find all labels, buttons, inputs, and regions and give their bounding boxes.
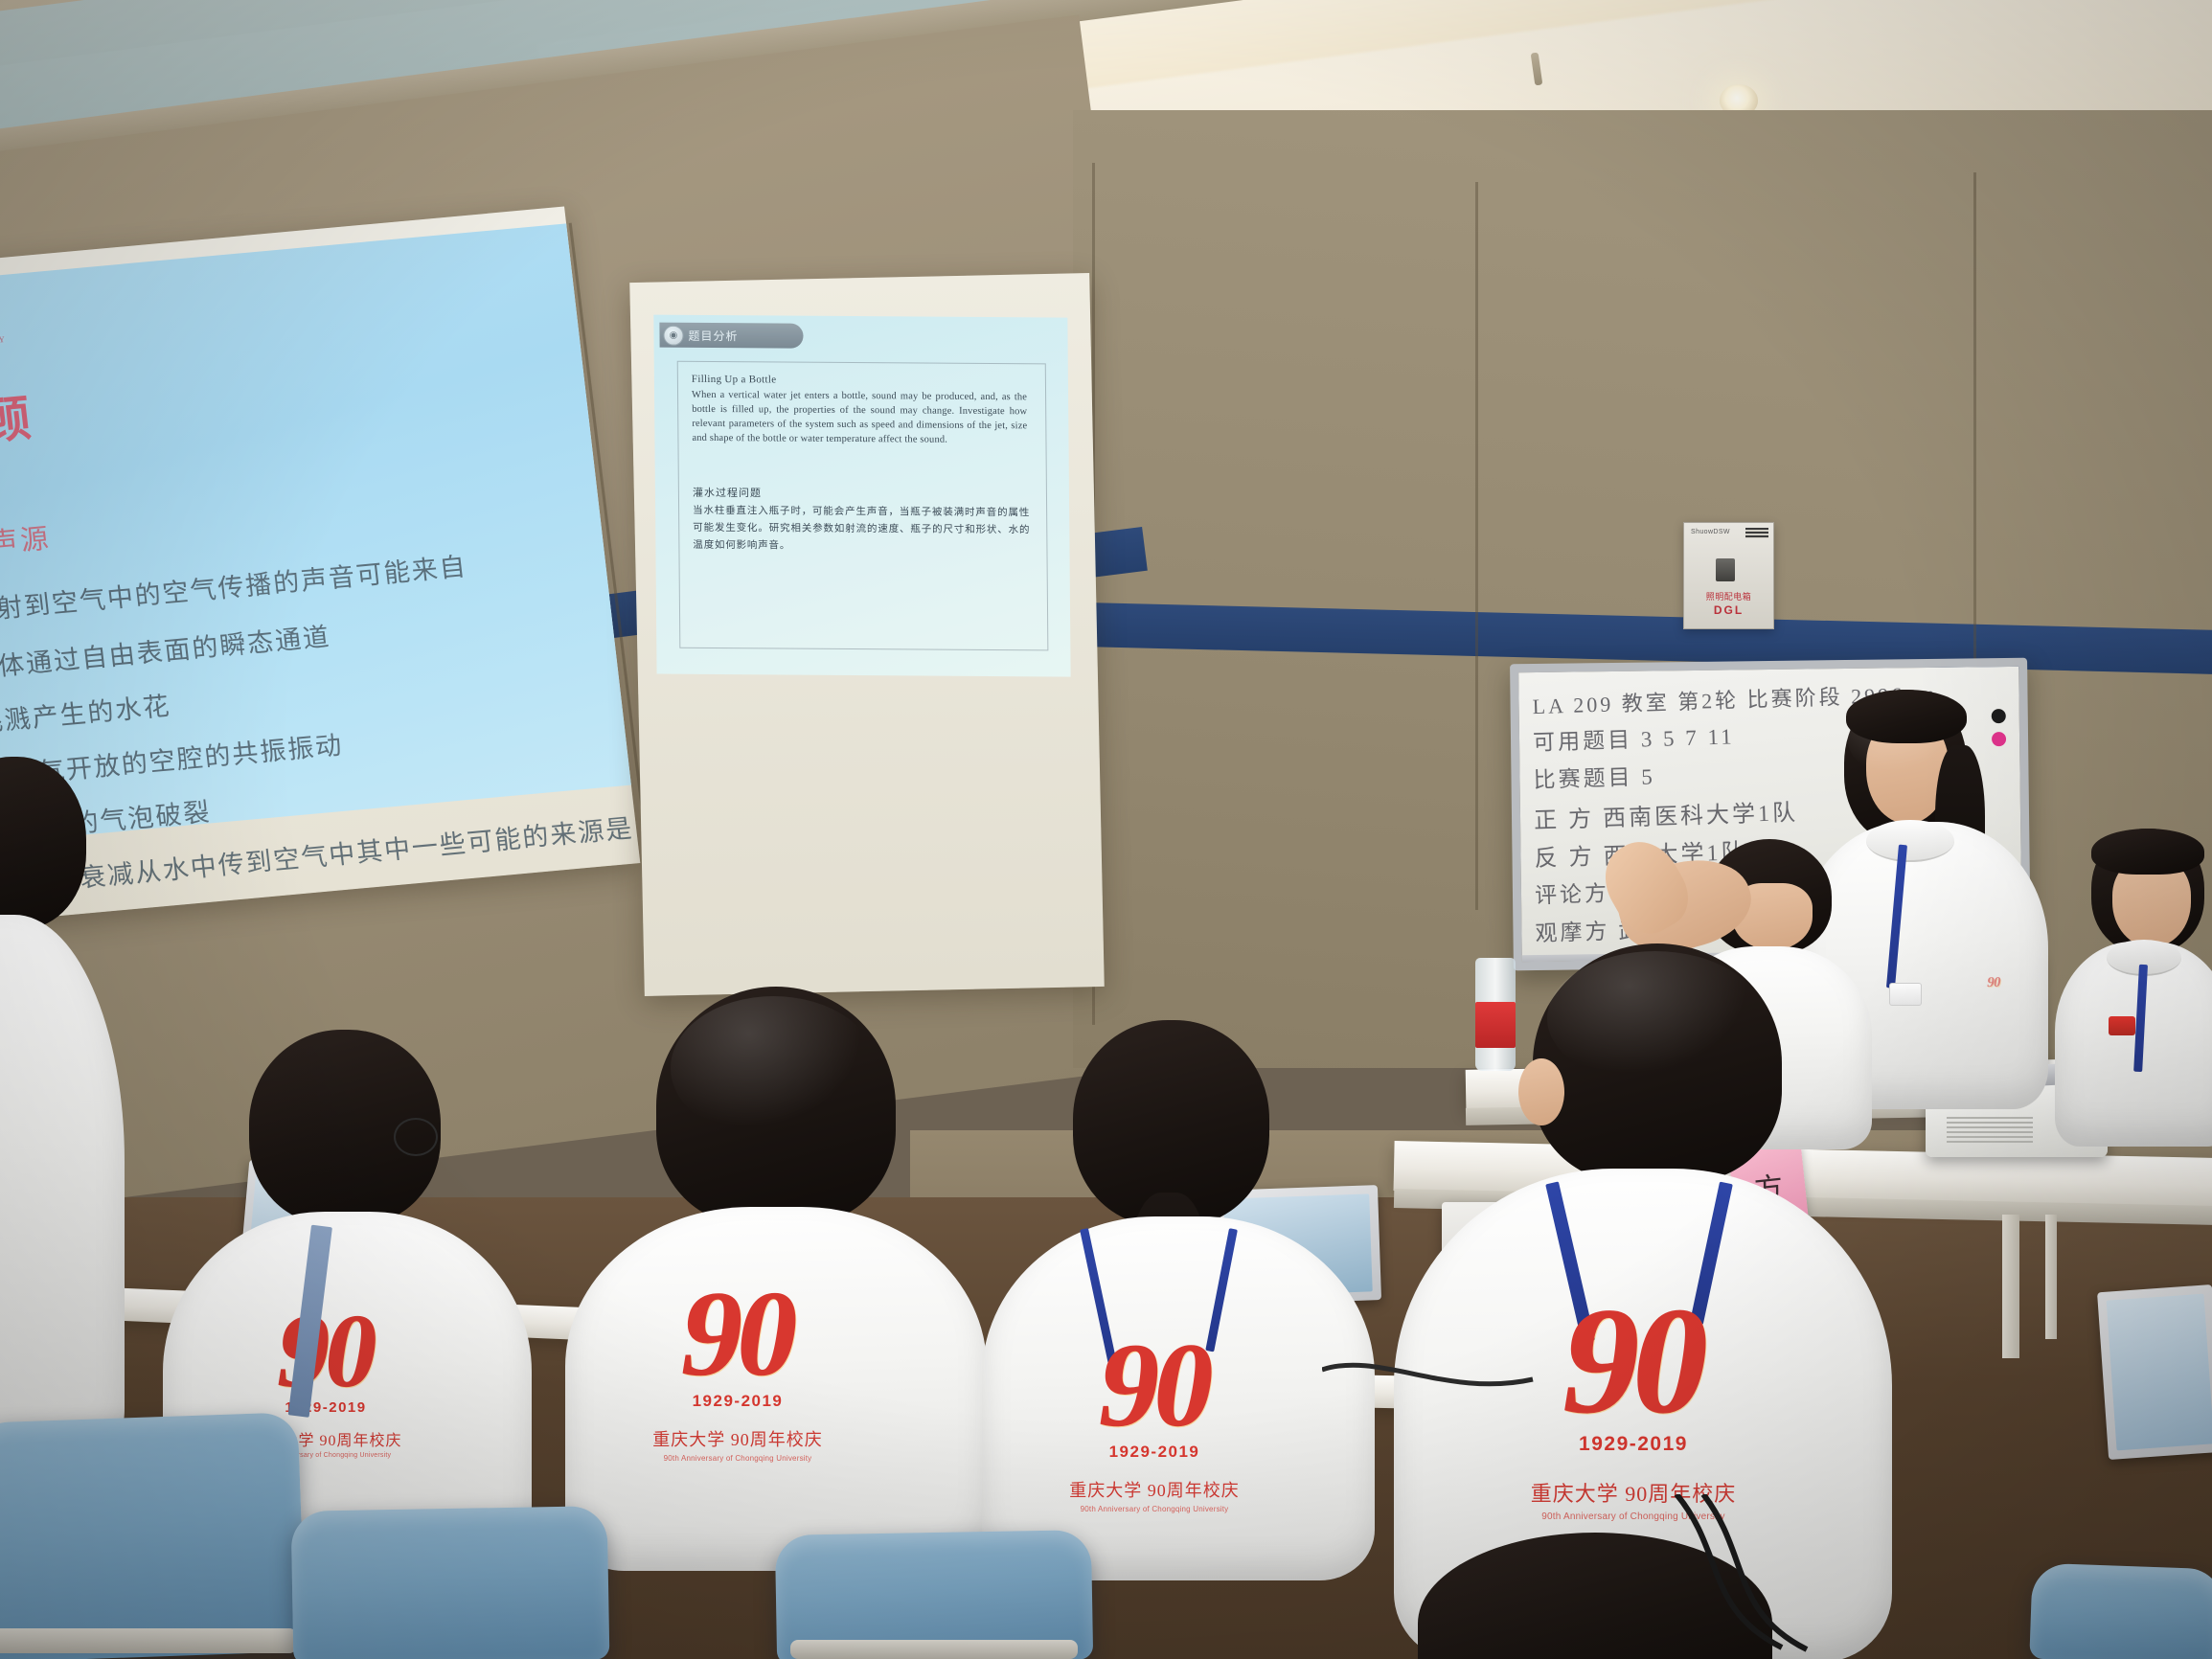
chair-frame [790, 1640, 1078, 1659]
person-operator-right [2055, 829, 2212, 1145]
whiteboard-line: 比赛题目 5 [1533, 758, 1655, 794]
cqu-cn-label: 重庆大学 90周年校庆 [594, 1426, 881, 1451]
seated-far-left-torso [0, 915, 125, 1451]
tshirt-emblem: 90 1929-2019 重庆大学 90周年校庆 90th Anniversar… [1011, 1336, 1298, 1513]
projector-vent-icon [1947, 1117, 2033, 1146]
wall-seam [1475, 182, 1478, 910]
person-seated-far-left [0, 757, 134, 1466]
projection-screen-right: ◉ 题目分析 Filling Up a Bottle When a vertic… [629, 273, 1104, 996]
panel-label-code: DGL [1684, 603, 1773, 617]
cqu-en-label: 90th Anniversary of Chongqing University [594, 1454, 881, 1463]
cqu-logo-small: 90 [1973, 977, 2015, 989]
problem-en-body: When a vertical water jet enters a bottl… [692, 388, 1028, 447]
desk-leg [2045, 1215, 2057, 1339]
seated-front-ear [1518, 1058, 1564, 1125]
slide-body-line: ①物体通过自由表面的瞬态通道 [0, 616, 332, 689]
slide-university-logo: 庆大學 CHONGQING UNIVERSITY [0, 302, 6, 355]
slide-logo-en: CHONGQING UNIVERSITY [0, 334, 6, 355]
whiteboard-line: 可用题目 3 5 7 11 [1533, 717, 1736, 757]
slide-body-line: ②飞溅产生的水花 [0, 685, 172, 742]
panel-label-cn: 照明配电箱 [1684, 590, 1773, 602]
chair[interactable] [291, 1506, 610, 1659]
laptop-screen [2107, 1294, 2212, 1451]
operator-hair-front [2091, 829, 2204, 875]
cqu-logo: 90 [190, 1307, 462, 1394]
problem-cn-title: 灌水过程问题 [693, 485, 762, 501]
slide-section-banner: ◉ 题目分析 [659, 323, 803, 349]
cable-icon [1322, 1351, 1542, 1466]
cable-icon [1667, 1494, 1916, 1657]
problem-cn-body: 当水柱垂直注入瓶子时，可能会产生声音，当瓶子被装满时声音的属性可能发生变化。研究… [693, 503, 1031, 557]
whiteboard-line: 正 方 西南医科大学1队 [1534, 793, 1799, 835]
target-icon: ◉ [663, 325, 683, 345]
slide-text-frame: Filling Up a Bottle When a vertical wate… [677, 361, 1049, 651]
presenter-hair-front [1846, 690, 1967, 743]
projected-slide-left: 庆大學 CHONGQING UNIVERSITY 献回顾 多种声源 直接辐射到空… [0, 223, 640, 847]
slide-body-line: 直接辐射到空气中的空气传播的声音可能来自 [0, 545, 468, 632]
cqu-logo: 90 [1003, 1336, 1306, 1435]
slide-section-label: 题目分析 [688, 327, 738, 343]
chair[interactable] [2029, 1563, 2212, 1659]
cqu-logo: 90 [586, 1284, 890, 1384]
slide-title-left: 献回顾 [0, 378, 37, 463]
desk-leg [2002, 1215, 2019, 1358]
presenter-shirt-emblem: 90 [1973, 977, 2014, 989]
glasses-icon [394, 1118, 438, 1156]
operator-badge [2109, 1016, 2135, 1035]
seated-curly-hair-highlight [671, 996, 877, 1140]
panel-vent-icon [1745, 528, 1768, 538]
cqu-cn-label: 重庆大学 90周年校庆 [1011, 1477, 1298, 1502]
panel-brand-label: ShuowDSW [1691, 529, 1730, 535]
person-seated-ponytail: 90 1929-2019 重庆大学 90周年校庆 90th Anniversar… [1020, 1020, 1346, 1576]
chair[interactable] [0, 1412, 306, 1659]
seated-far-left-head [0, 757, 86, 929]
slide-subtitle-left: 多种声源 [0, 516, 53, 567]
seated-front-hair-highlight [1547, 951, 1763, 1085]
panel-lock-icon [1716, 558, 1735, 581]
tshirt-emblem: 90 1929-2019 重庆大学 90周年校庆 90th Anniversar… [594, 1284, 881, 1463]
electrical-distribution-box: ShuowDSW 照明配电箱 DGL [1683, 522, 1774, 629]
presenter-collar [1866, 820, 1954, 862]
classroom-photo-scene: 庆大學 CHONGQING UNIVERSITY 献回顾 多种声源 直接辐射到空… [0, 0, 2212, 1659]
projected-slide-right: ◉ 题目分析 Filling Up a Bottle When a vertic… [653, 315, 1070, 677]
laptop[interactable] [2097, 1284, 2212, 1460]
chair-frame [0, 1628, 297, 1653]
person-seated-curly: 90 1929-2019 重庆大学 90周年校庆 90th Anniversar… [618, 987, 953, 1561]
presenter-id-badge [1889, 983, 1922, 1006]
problem-en-title: Filling Up a Bottle [692, 374, 777, 386]
cqu-en-label: 90th Anniversary of Chongqing University [1011, 1505, 1298, 1513]
